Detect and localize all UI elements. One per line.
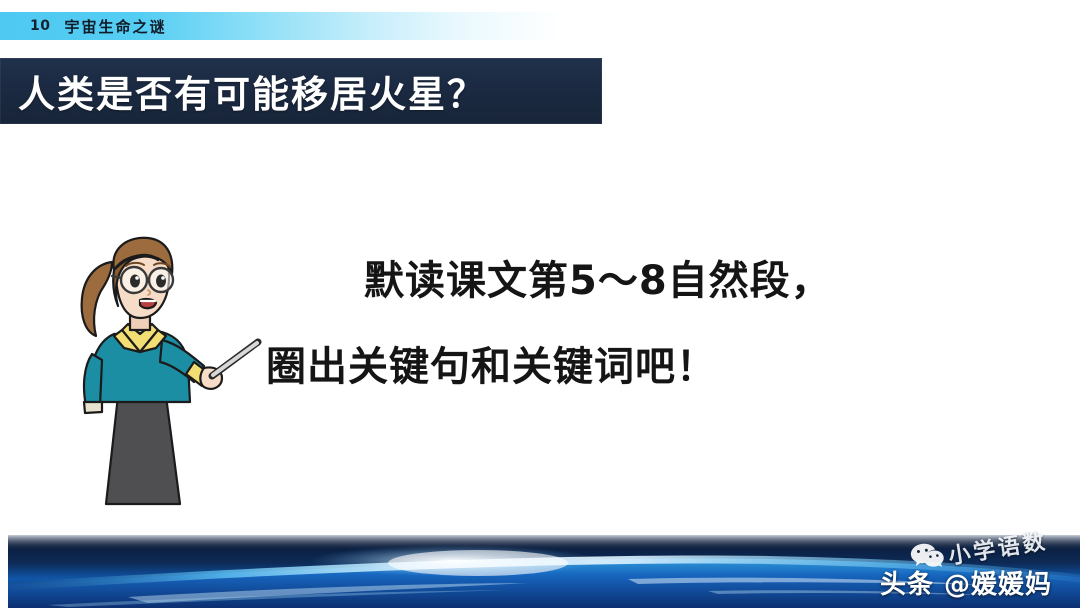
slide-body: 默读课文第5～8自然段， 圈出关键句和关键词吧！: [0, 150, 1080, 520]
instruction-line-1: 默读课文第5～8自然段，: [258, 238, 958, 324]
section-title-banner: 人类是否有可能移居火星？: [0, 58, 602, 124]
lesson-header-content: 10 宇宙生命之谜: [30, 12, 167, 40]
lesson-title: 宇宙生命之谜: [64, 16, 166, 37]
footer-space-image: [8, 535, 1080, 608]
lesson-number: 10: [30, 18, 50, 34]
instruction-line-2: 圈出关键句和关键词吧！: [258, 324, 958, 410]
slide-canvas: 10 宇宙生命之谜 人类是否有可能移居火星？: [0, 0, 1080, 608]
instruction-text-block: 默读课文第5～8自然段， 圈出关键句和关键词吧！: [258, 238, 958, 410]
section-title-text: 人类是否有可能移居火星？: [18, 64, 486, 118]
teacher-illustration: [62, 236, 262, 511]
lesson-header-bar: 10 宇宙生命之谜: [0, 12, 640, 40]
